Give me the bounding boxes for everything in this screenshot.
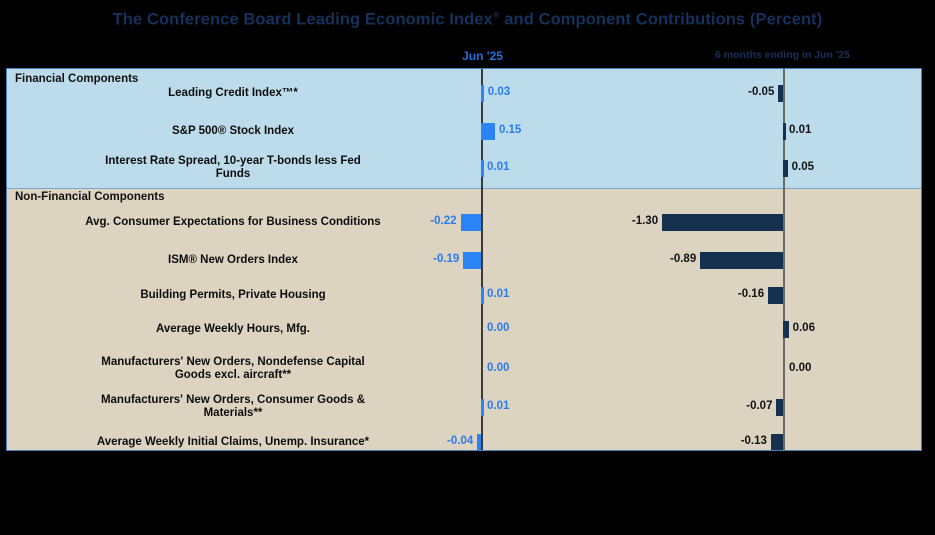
bar-six-month (700, 252, 783, 269)
bar-current-month (481, 160, 484, 177)
bar-current-month (481, 123, 495, 140)
bar-six-month (783, 160, 788, 177)
value-label-six-month: -0.16 (7, 288, 764, 300)
section-label-nonfinancial: Non-Financial Components (15, 191, 165, 203)
registered-mark-icon: ® (493, 10, 500, 20)
page-title-text-after: and Component Contributions (Percent) (500, 11, 823, 29)
bar-six-month (776, 399, 783, 416)
value-label-current-month: 0.01 (487, 161, 509, 173)
bar-six-month (778, 85, 783, 102)
value-label-six-month: 0.01 (789, 124, 811, 136)
page-title-text-before: The Conference Board Leading Economic In… (113, 11, 493, 29)
bar-six-month (771, 434, 783, 451)
value-label-six-month: -0.07 (7, 400, 772, 412)
column-header-current-month: Jun '25 (420, 49, 545, 63)
value-label-six-month: 0.05 (792, 161, 814, 173)
column-header-six-month: 6 months ending in Jun '25 (620, 49, 935, 61)
value-label-current-month: 0.15 (499, 124, 521, 136)
bar-six-month (768, 287, 783, 304)
value-label-six-month: -0.89 (7, 253, 696, 265)
chart-plot-area: Financial Components Non-Financial Compo… (6, 68, 922, 451)
value-label-six-month: -1.30 (7, 215, 658, 227)
bar-six-month (783, 123, 786, 140)
bar-six-month (783, 321, 789, 338)
value-label-six-month: 0.06 (793, 322, 815, 334)
value-label-six-month: 0.00 (789, 362, 811, 374)
value-label-current-month: 0.00 (487, 322, 509, 334)
page-title: The Conference Board Leading Economic In… (0, 10, 935, 30)
value-label-current-month: 0.00 (487, 362, 509, 374)
value-label-six-month: -0.05 (7, 86, 774, 98)
value-label-six-month: -0.13 (7, 435, 767, 447)
bar-six-month (662, 214, 783, 231)
section-label-financial: Financial Components (15, 73, 138, 85)
